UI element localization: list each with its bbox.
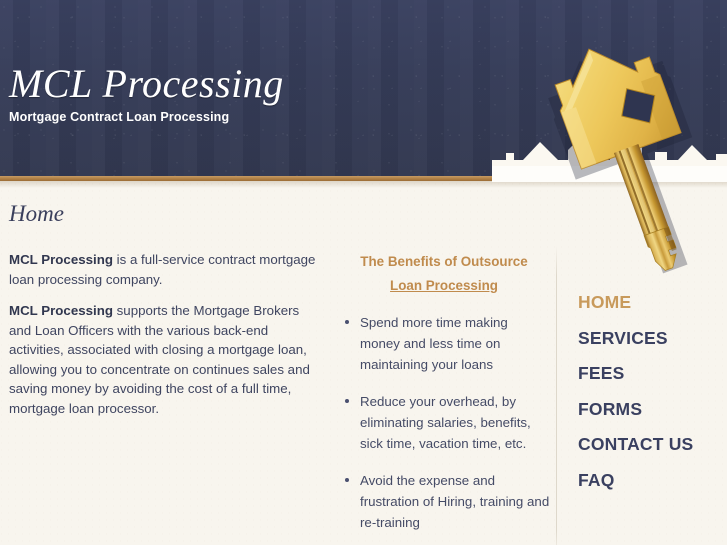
site-tagline: Mortgage Contract Loan Processing: [9, 110, 229, 124]
benefits-column: The Benefits of Outsource Loan Processin…: [338, 250, 550, 545]
benefits-heading: The Benefits of Outsource Loan Processin…: [338, 250, 550, 298]
main-navigation: HOME SERVICES FEES FORMS CONTACT US FAQ: [578, 292, 723, 505]
benefits-list: Spend more time making money and less ti…: [338, 312, 550, 533]
intro-lead-2: MCL Processing: [9, 303, 113, 318]
main-content: Home MCL Processing is a full-service co…: [0, 188, 727, 545]
page-root: MCL Processing Mortgage Contract Loan Pr…: [0, 0, 727, 545]
list-item: Spend more time making money and less ti…: [360, 312, 550, 375]
intro-paragraph-1: MCL Processing is a full-service contrac…: [9, 250, 321, 289]
list-item: Reduce your overhead, by eliminating sal…: [360, 391, 550, 454]
list-item: Avoid the expense and frustration of Hir…: [360, 470, 550, 533]
column-divider: [556, 246, 557, 545]
rooftops-skyline-icon: [492, 120, 727, 182]
page-title: Home: [9, 200, 64, 228]
header-divider-shadow: [0, 181, 727, 188]
benefits-heading-line1: The Benefits of Outsource: [360, 254, 527, 269]
nav-item-faq[interactable]: FAQ: [578, 470, 723, 490]
intro-lead-1: MCL Processing: [9, 252, 113, 267]
intro-paragraph-2: MCL Processing supports the Mortgage Bro…: [9, 301, 321, 418]
benefits-heading-line2: Loan Processing: [338, 274, 550, 298]
nav-item-forms[interactable]: FORMS: [578, 399, 723, 419]
nav-item-services[interactable]: SERVICES: [578, 328, 723, 348]
intro-column: MCL Processing is a full-service contrac…: [9, 250, 321, 430]
nav-item-contact-us[interactable]: CONTACT US: [578, 434, 723, 454]
intro-rest-2: supports the Mortgage Brokers and Loan O…: [9, 303, 310, 416]
site-brand-title: MCL Processing: [9, 61, 284, 107]
nav-item-home[interactable]: HOME: [578, 292, 723, 312]
nav-item-fees[interactable]: FEES: [578, 363, 723, 383]
